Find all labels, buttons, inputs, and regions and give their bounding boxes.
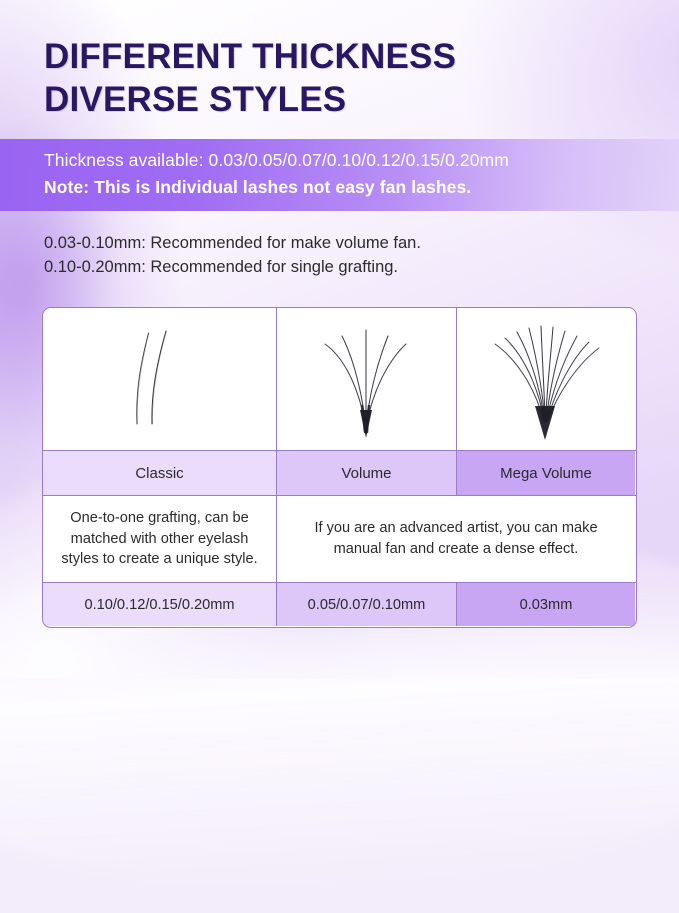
table-row-descriptions: One-to-one grafting, can be matched with… [43,496,636,582]
page-title-line-1: DIFFERENT THICKNESS [44,36,644,79]
lash-comparison-table: Classic Volume Mega Volume One-to-one gr… [42,307,637,628]
table-row-thickness: 0.10/0.12/0.15/0.20mm 0.05/0.07/0.10mm 0… [43,582,636,626]
description-volume-mega: If you are an advanced artist, you can m… [277,496,635,582]
mega-volume-fan-illustration [481,314,611,444]
page-title-line-2: DIVERSE STYLES [44,79,644,122]
page-title: DIFFERENT THICKNESS DIVERSE STYLES [44,36,644,121]
thickness-mega-volume: 0.03mm [457,583,635,626]
thickness-classic: 0.10/0.12/0.15/0.20mm [43,583,277,626]
table-row-labels: Classic Volume Mega Volume [43,450,636,496]
thickness-banner: Thickness available: 0.03/0.05/0.07/0.10… [0,139,679,211]
thickness-available-text: Thickness available: 0.03/0.05/0.07/0.10… [44,150,509,171]
recommendation-line-1: 0.03-0.10mm: Recommended for make volume… [44,232,421,256]
classic-lash-illustration [85,314,235,444]
column-label-volume: Volume [277,451,457,495]
mega-volume-figure-cell [457,308,635,450]
column-label-mega-volume: Mega Volume [457,451,635,495]
description-classic: One-to-one grafting, can be matched with… [43,496,277,582]
column-label-classic: Classic [43,451,277,495]
classic-figure-cell [43,308,277,450]
thickness-volume: 0.05/0.07/0.10mm [277,583,457,626]
table-row-illustrations [43,308,636,450]
banner-note-text: Note: This is Individual lashes not easy… [44,177,471,198]
recommendation-line-2: 0.10-0.20mm: Recommended for single graf… [44,256,421,280]
page-content: DIFFERENT THICKNESS DIVERSE STYLES Thick… [0,0,679,679]
recommendation-list: 0.03-0.10mm: Recommended for make volume… [44,232,421,280]
volume-figure-cell [277,308,457,450]
volume-fan-illustration [302,314,432,444]
